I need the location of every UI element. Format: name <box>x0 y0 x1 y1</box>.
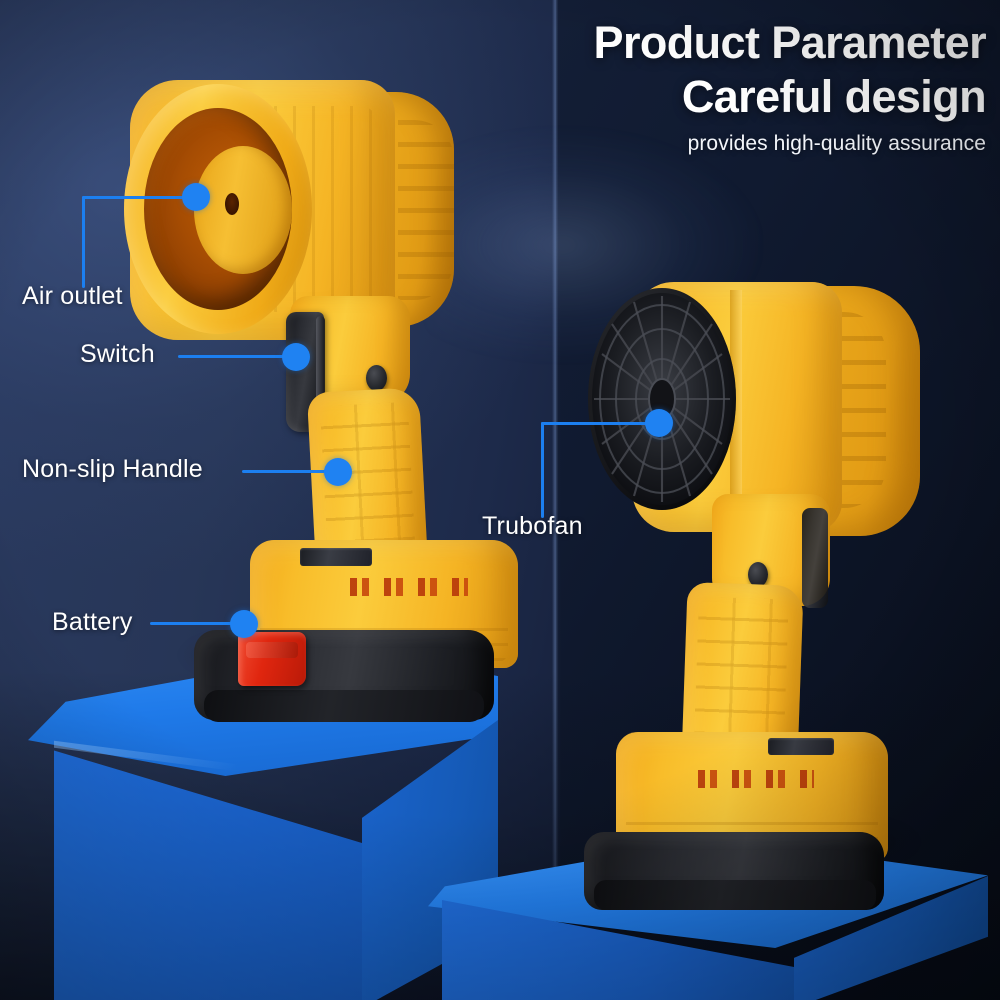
callout-battery-line <box>150 622 242 625</box>
callout-non-slip-handle-label: Non-slip Handle <box>22 455 203 484</box>
callout-trubofan-label: Trubofan <box>482 512 583 541</box>
product-tool-left <box>108 60 528 680</box>
callout-trubofan-line-v <box>541 422 544 518</box>
callout-air-outlet-dot[interactable] <box>182 183 210 211</box>
callout-non-slip-handle-dot[interactable] <box>324 458 352 486</box>
tool-left-vent-slots <box>350 578 468 596</box>
callout-switch-label: Switch <box>80 340 155 369</box>
tool-right-battery-base <box>594 880 876 910</box>
callout-air-outlet-label: Air outlet <box>22 282 123 311</box>
callout-air-outlet-line-v <box>82 196 85 288</box>
tool-right-turbofan-grille <box>588 288 736 510</box>
tool-right-brand-sticker <box>768 738 834 755</box>
tool-left-battery-release-notch <box>246 642 298 658</box>
pedestal-left-front-face <box>54 734 364 1000</box>
tool-right-switch[interactable] <box>802 508 828 608</box>
page-title-line-2: Careful design <box>594 70 986 124</box>
header: Product Parameter Careful design provide… <box>594 16 986 156</box>
callout-battery-label: Battery <box>52 608 133 637</box>
product-tool-right <box>580 262 960 882</box>
callout-trubofan-line-h <box>541 422 659 425</box>
tool-left-battery-base <box>204 690 484 722</box>
tool-left-battery-release-button[interactable] <box>238 632 306 686</box>
callout-battery-dot[interactable] <box>230 610 258 638</box>
tool-left-mode-button[interactable] <box>366 365 387 391</box>
callout-switch-line <box>178 355 290 358</box>
page-subtitle: provides high-quality assurance <box>594 132 986 156</box>
page-title-line-1: Product Parameter <box>594 16 986 70</box>
tool-left-vent-marks <box>398 120 454 300</box>
tool-right-vent-slots <box>698 770 814 788</box>
product-infographic: Product Parameter Careful design provide… <box>0 0 1000 1000</box>
callout-air-outlet-line-h <box>82 196 198 199</box>
tool-left-bore-backwall <box>194 146 292 274</box>
callout-switch-dot[interactable] <box>282 343 310 371</box>
tool-left-brand-sticker <box>300 548 372 566</box>
tool-left-center-hole <box>225 193 239 215</box>
tool-right-mode-button[interactable] <box>748 562 768 587</box>
callout-trubofan-dot[interactable] <box>645 409 673 437</box>
